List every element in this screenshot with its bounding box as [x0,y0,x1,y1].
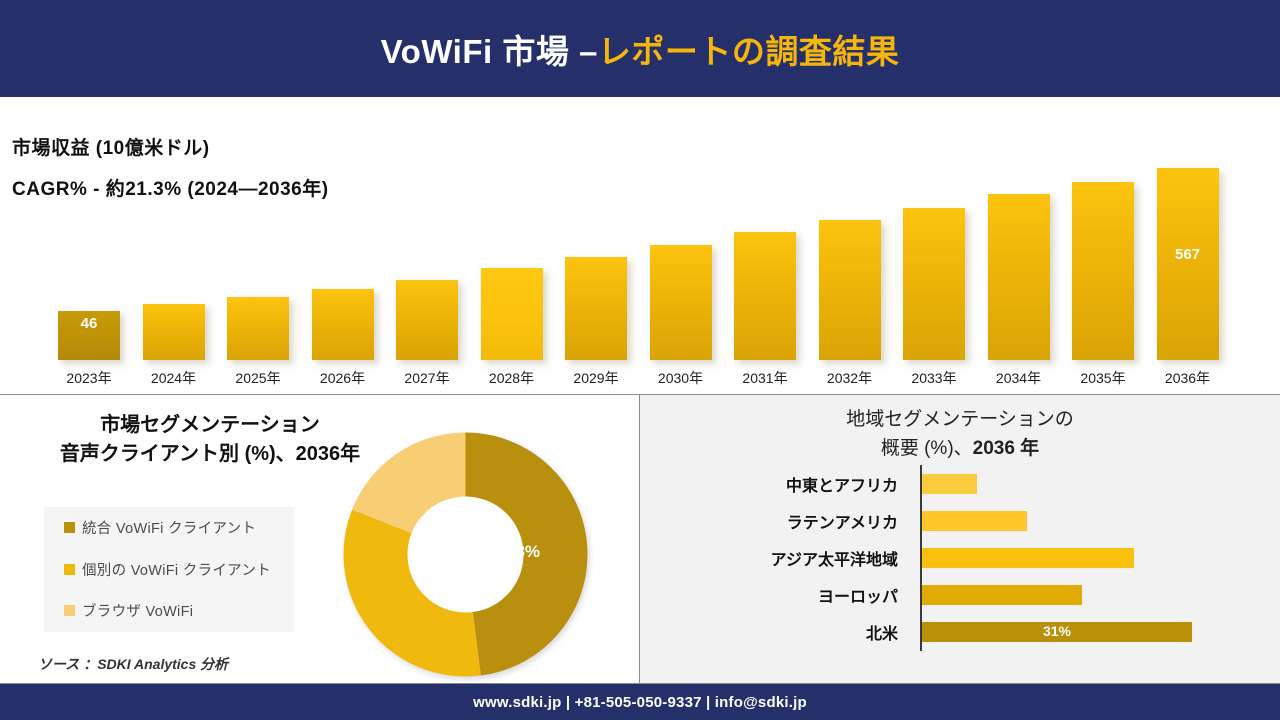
legend-color-swatch [64,605,75,616]
revenue-bar-column [650,245,712,360]
page-footer: www.sdki.jp | +81-505-050-9337 | info@sd… [0,684,1280,720]
revenue-bar [565,257,627,360]
revenue-bar [143,304,205,360]
revenue-bar-column [227,297,289,360]
region-label: 中東とアフリカ [640,472,910,496]
revenue-bar [481,268,543,360]
revenue-x-tick: 2023年 [44,368,134,388]
region-label: ラテンアメリカ [640,509,910,533]
region-bar [922,548,1134,568]
region-title-line1: 地域セグメンテーションの [640,406,1280,435]
revenue-bar-column [143,304,205,360]
revenue-bar [650,245,712,360]
page-header: VoWiFi 市場 –レポートの調査結果 [0,0,1280,97]
legend-color-swatch [64,522,75,533]
region-bar [922,511,1027,531]
revenue-bar [396,280,458,360]
donut-chart: 48% [338,427,593,682]
revenue-bar: 46 [58,311,120,360]
page-title: VoWiFi 市場 –レポートの調査結果 [381,25,900,73]
region-row: ラテンアメリカ [640,502,1280,539]
region-label: アジア太平洋地域 [640,546,910,570]
donut-legend: 統合 VoWiFi クライアント個別の VoWiFi クライアントブラウザ Vo… [44,507,294,632]
revenue-bar-column [481,268,543,360]
revenue-bar-column [396,280,458,360]
revenue-x-tick: 2025年 [213,368,303,388]
revenue-bar-column [565,257,627,360]
revenue-bar-column [734,232,796,360]
revenue-bar [903,208,965,360]
revenue-bar: 567 [1157,168,1219,360]
revenue-x-tick: 2034年 [974,368,1064,388]
segmentation-title: 市場セグメンテーション 音声クライアント別 (%)、2036年 [40,411,380,469]
legend-item-label: 個別の VoWiFi クライアント [82,559,271,580]
revenue-bar [1072,182,1134,360]
revenue-bar-column [819,220,881,360]
revenue-x-tick: 2027年 [382,368,472,388]
revenue-x-tick: 2026年 [298,368,388,388]
donut-legend-item: 統合 VoWiFi クライアント [44,507,294,549]
infographic-page: VoWiFi 市場 –レポートの調査結果 市場収益 (10億米ドル) CAGR%… [0,0,1280,720]
segmentation-title-line2: 音声クライアント別 (%)、2036年 [40,440,380,469]
region-bar [922,474,977,494]
revenue-bars-area: 462023年2024年2025年2026年2027年2028年2029年203… [0,97,1280,394]
region-bar-value: 31% [922,623,1192,639]
footer-contact: www.sdki.jp | +81-505-050-9337 | info@sd… [473,694,807,711]
revenue-x-tick: 2032年 [805,368,895,388]
revenue-bar-column [1072,182,1134,360]
revenue-bar-column [312,289,374,360]
region-bar: 31% [922,622,1192,642]
revenue-bar [734,232,796,360]
revenue-bar [819,220,881,360]
source-note: ソース ：SDKI Analytics 分析 [38,654,228,674]
region-row: 中東とアフリカ [640,465,1280,502]
region-title-line2: 概要 (%)、2036 年 [640,435,1280,464]
revenue-bar-column [988,194,1050,360]
donut-legend-item: 個別の VoWiFi クライアント [44,549,294,591]
page-title-primary: VoWiFi 市場 – [381,33,598,70]
revenue-bar-value: 567 [1157,246,1219,263]
region-title: 地域セグメンテーションの 概要 (%)、2036 年 [640,406,1280,463]
region-row: ヨーロッパ [640,576,1280,613]
page-title-accent: レポートの調査結果 [598,33,900,70]
legend-item-label: 統合 VoWiFi クライアント [82,517,256,538]
revenue-x-tick: 2029年 [551,368,641,388]
revenue-x-tick: 2033年 [889,368,979,388]
segmentation-panel: 市場セグメンテーション 音声クライアント別 (%)、2036年 統合 VoWiF… [0,395,639,683]
region-row: 北米31% [640,613,1280,650]
region-row: アジア太平洋地域 [640,539,1280,576]
revenue-bar-value: 46 [58,315,120,332]
revenue-x-tick: 2028年 [467,368,557,388]
donut-center-value: 48% [506,542,540,562]
region-title-year: 2036 年 [973,438,1040,459]
region-title-prefix: 概要 (%)、 [881,438,973,459]
revenue-bar-column [903,208,965,360]
donut-legend-item: ブラウザ VoWiFi [44,590,294,632]
legend-color-swatch [64,564,75,575]
revenue-x-tick: 2035年 [1058,368,1148,388]
revenue-x-tick: 2030年 [636,368,726,388]
revenue-bar-column: 567 [1157,168,1219,360]
region-panel: 地域セグメンテーションの 概要 (%)、2036 年 中東とアフリカラテンアメリ… [640,395,1280,683]
legend-item-label: ブラウザ VoWiFi [82,600,193,621]
revenue-x-tick: 2024年 [129,368,219,388]
revenue-chart-section: 市場収益 (10億米ドル) CAGR% - 約21.3% (2024―2036年… [0,97,1280,394]
revenue-x-tick: 2036年 [1143,368,1233,388]
region-label: ヨーロッパ [640,583,910,607]
revenue-bar [312,289,374,360]
region-bar-chart: 中東とアフリカラテンアメリカアジア太平洋地域ヨーロッパ北米31% [640,465,1280,665]
revenue-bar [988,194,1050,360]
region-bar [922,585,1082,605]
revenue-bar [227,297,289,360]
revenue-x-tick: 2031年 [720,368,810,388]
revenue-bar-column: 46 [58,311,120,360]
region-label: 北米 [640,620,910,644]
segmentation-title-line1: 市場セグメンテーション [40,411,380,440]
donut-svg [338,427,593,682]
